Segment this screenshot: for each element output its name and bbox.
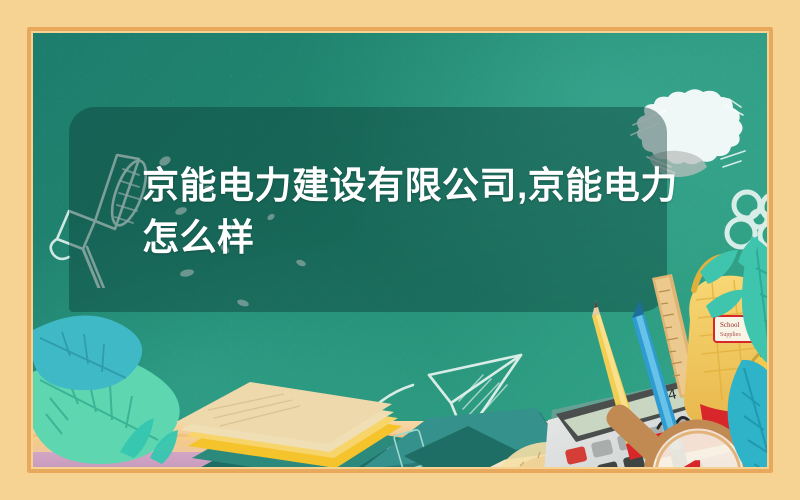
page-title: 京能电力建设有限公司,京能电力怎么样 (142, 160, 702, 264)
paper-plane-doodle (333, 345, 553, 465)
poster-canvas: 京能电力建设有限公司,京能电力怎么样 (0, 0, 800, 500)
flower-doodle-large (723, 185, 767, 261)
flower-doodle-small (725, 281, 767, 343)
